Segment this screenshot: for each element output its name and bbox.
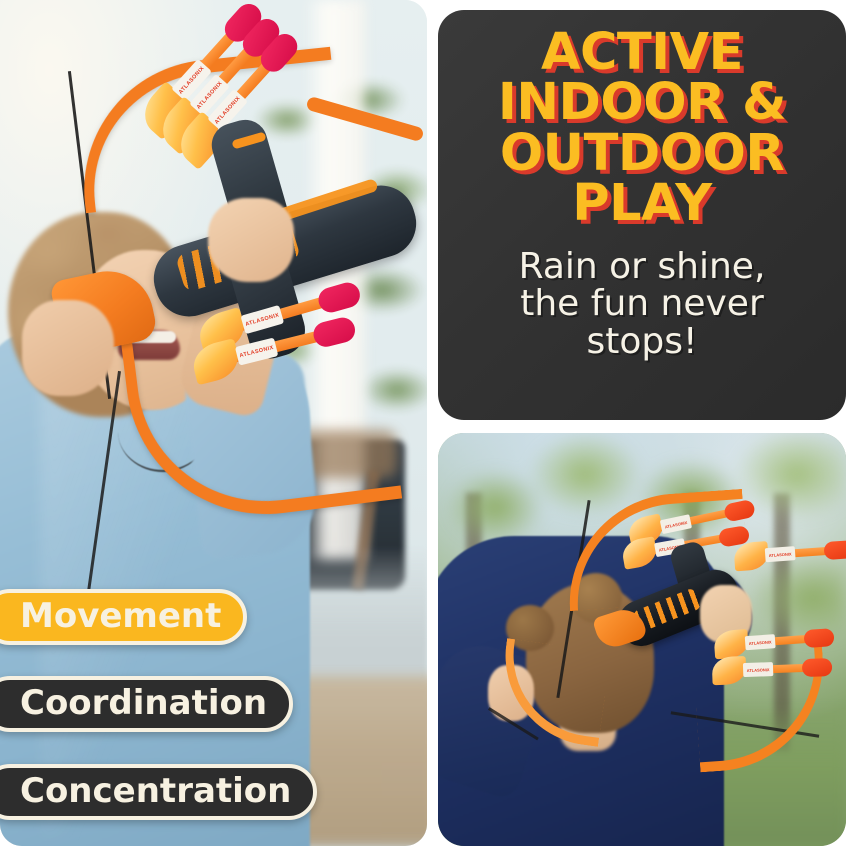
product-infographic-canvas: ATLASONIX ATLASONIX ATLASONIX ATLASON — [0, 0, 856, 856]
arrow-brand-text: ATLASONIX — [239, 344, 274, 358]
toy-arrow: ATLASONIX — [720, 634, 816, 641]
arrow-foam-tip — [803, 628, 834, 648]
arrow-brand-text: ATLASONIX — [245, 312, 280, 327]
feature-pill-concentration: Concentration — [0, 764, 317, 820]
toy-arrow: ATLASONIX — [718, 664, 814, 667]
arrow-brand-band: ATLASONIX — [745, 634, 776, 650]
headline-line-4: PLAY — [572, 179, 711, 229]
photo-outdoor-panel: ATLASONIX ATLASONIX ATLASONIX ATLASONIX — [438, 433, 846, 846]
arrow-brand-text: ATLASONIX — [664, 519, 687, 529]
child-left-hand — [22, 300, 114, 396]
headline-panel: ACTIVE INDOOR & OUTDOOR PLAY Rain or shi… — [438, 10, 846, 420]
arrow-foam-tip — [802, 658, 833, 677]
arrow-brand-band: ATLASONIX — [765, 546, 796, 562]
subhead-line-2: the fun never — [520, 285, 764, 322]
subhead-line-3: stops! — [587, 323, 698, 360]
arrow-brand-text: ATLASONIX — [749, 639, 772, 646]
toy-arrow: ATLASONIX — [740, 546, 836, 553]
arrow-brand-band: ATLASONIX — [743, 662, 773, 677]
feature-pill-label: Movement — [20, 599, 221, 633]
feature-pill-label: Concentration — [20, 774, 291, 808]
arrow-foam-tip — [823, 540, 846, 560]
arrow-brand-text: ATLASONIX — [769, 551, 792, 558]
headline-line-3: OUTDOOR — [500, 129, 784, 179]
subhead-line-1: Rain or shine, — [519, 248, 766, 285]
headline-line-1: ACTIVE — [541, 28, 743, 78]
arrow-brand-text: ATLASONIX — [747, 667, 770, 673]
feature-pill-label: Coordination — [20, 686, 267, 720]
feature-pill-movement: Movement — [0, 589, 247, 645]
child-right-hand — [208, 198, 294, 282]
headline-line-2: INDOOR & — [498, 78, 786, 128]
feature-pill-coordination: Coordination — [0, 676, 293, 732]
